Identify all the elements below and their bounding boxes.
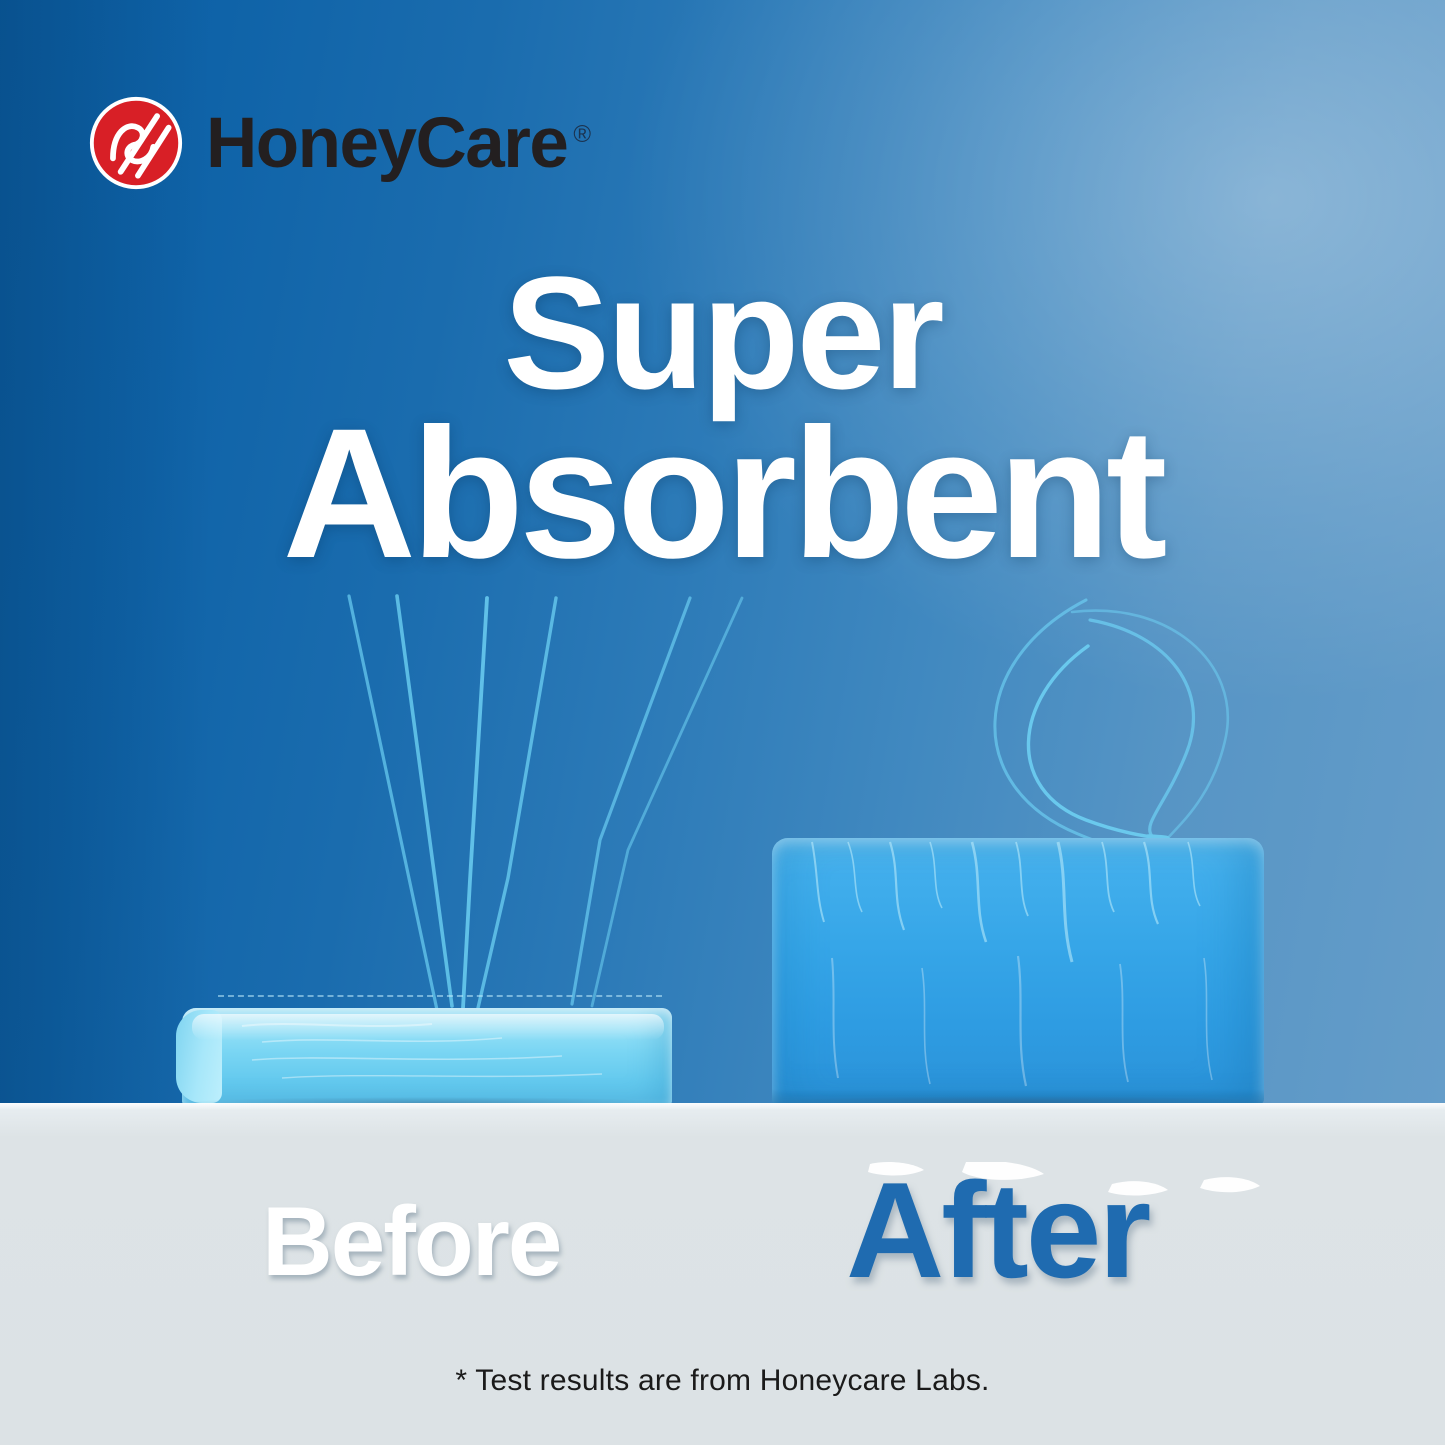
honeycare-circle-mark-icon: [88, 95, 184, 191]
promo-banner: HoneyCare® Super Absorbent: [0, 0, 1445, 1445]
after-product-texture: [772, 838, 1264, 1103]
footnote-text: * Test results are from Honeycare Labs.: [0, 1364, 1445, 1398]
after-product-image: [772, 838, 1264, 1103]
before-product-image: [182, 1008, 672, 1103]
brand-wordmark: HoneyCare®: [206, 108, 591, 179]
floor-highlight: [0, 1103, 1445, 1110]
after-product-shadow: [772, 1096, 1272, 1103]
after-label: After: [846, 1162, 1148, 1298]
headline-line-1: Super: [0, 258, 1445, 408]
brand-name-text: HoneyCare: [206, 104, 567, 183]
dashed-measure-line-icon: [218, 995, 662, 997]
headline-line-2: Absorbent: [0, 408, 1445, 582]
brand-logo: HoneyCare®: [88, 95, 591, 191]
before-product-texture: [182, 1008, 672, 1103]
page-title: Super Absorbent: [0, 258, 1445, 582]
before-label: Before: [262, 1192, 560, 1290]
hero-background: HoneyCare® Super Absorbent: [0, 0, 1445, 1103]
registered-trademark-icon: ®: [573, 121, 591, 148]
